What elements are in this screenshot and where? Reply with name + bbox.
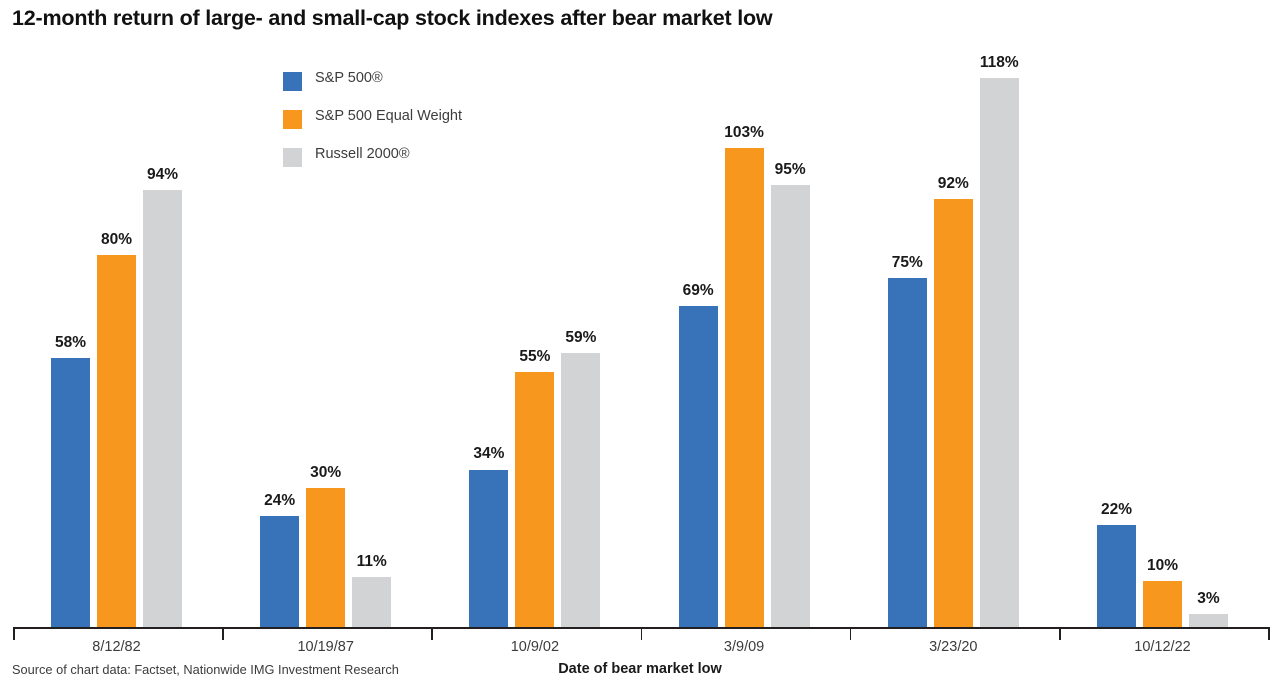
bar[interactable] [97, 255, 136, 628]
chart-page: 12-month return of large- and small-cap … [0, 0, 1280, 683]
x-axis-tick-label: 3/9/09 [664, 639, 824, 655]
bar[interactable] [51, 358, 90, 628]
bar-value-label: 22% [1084, 501, 1149, 519]
bar-value-label: 80% [84, 231, 149, 249]
bar-value-label: 69% [666, 282, 731, 300]
bar[interactable] [260, 516, 299, 628]
x-axis-tick [641, 627, 643, 640]
bar-value-label: 75% [875, 254, 940, 272]
bar[interactable] [980, 78, 1019, 628]
x-axis-tick-label: 10/9/02 [455, 639, 615, 655]
bar[interactable] [469, 470, 508, 629]
bar-value-label: 118% [967, 54, 1032, 72]
bar[interactable] [1097, 525, 1136, 628]
bar-value-label: 59% [548, 329, 613, 347]
bar-value-label: 94% [130, 166, 195, 184]
bar[interactable] [143, 190, 182, 628]
bar[interactable] [352, 577, 391, 628]
bar[interactable] [515, 372, 554, 628]
bar-value-label: 58% [38, 334, 103, 352]
bar-value-label: 11% [339, 553, 404, 571]
x-axis-tick [222, 627, 224, 640]
bar[interactable] [771, 185, 810, 628]
bar-value-label: 10% [1130, 557, 1195, 575]
bar-value-label: 103% [712, 124, 777, 142]
bar[interactable] [888, 278, 927, 628]
x-axis-tick [1268, 627, 1270, 640]
x-axis-tick [431, 627, 433, 640]
x-axis-tick-label: 10/19/87 [246, 639, 406, 655]
x-axis-tick [850, 627, 852, 640]
x-axis-title: Date of bear market low [0, 661, 1280, 677]
x-axis-tick-label: 8/12/82 [37, 639, 197, 655]
bar[interactable] [934, 199, 973, 628]
x-axis-tick [1059, 627, 1061, 640]
bar-value-label: 55% [502, 348, 567, 366]
bar-value-label: 92% [921, 175, 986, 193]
bar[interactable] [679, 306, 718, 628]
x-axis-tick [13, 627, 15, 640]
bar-value-label: 95% [758, 161, 823, 179]
bar-value-label: 34% [456, 445, 521, 463]
bar-value-label: 24% [247, 492, 312, 510]
x-axis-tick-label: 3/23/20 [873, 639, 1033, 655]
bar[interactable] [1189, 614, 1228, 628]
bar-value-label: 30% [293, 464, 358, 482]
bar-value-label: 3% [1176, 590, 1241, 608]
x-axis-tick-label: 10/12/22 [1083, 639, 1243, 655]
bar[interactable] [725, 148, 764, 628]
bar[interactable] [561, 353, 600, 628]
plot-area: 58%80%94%24%30%11%34%55%59%69%103%95%75%… [0, 0, 1280, 628]
